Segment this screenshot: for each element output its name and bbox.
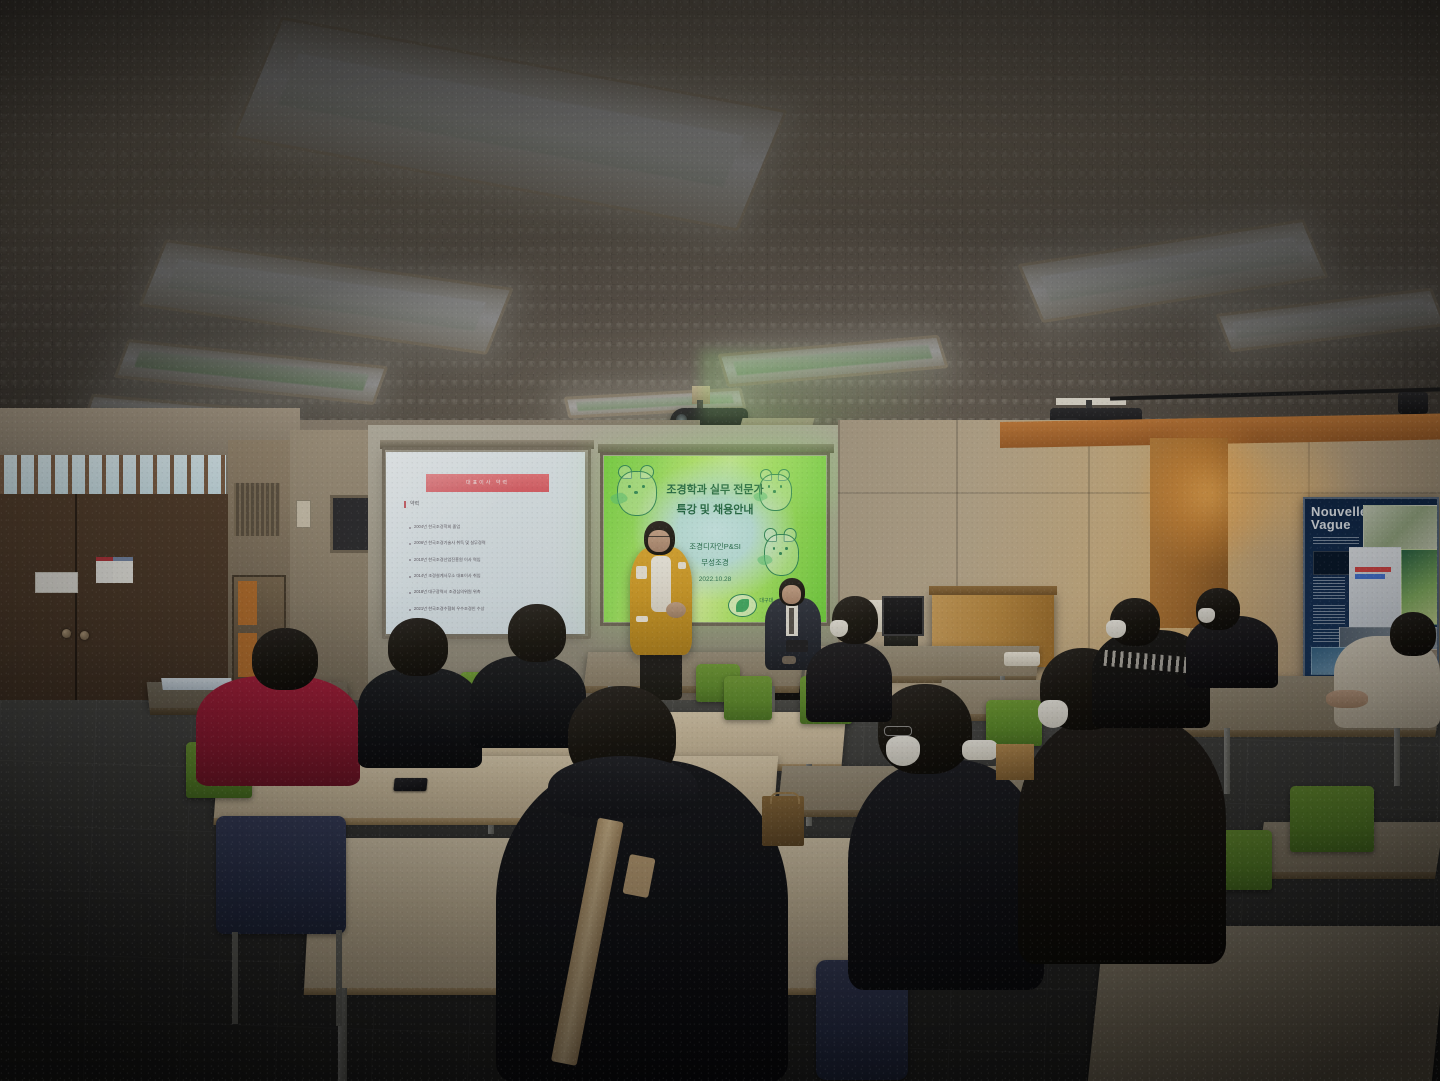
chair-green-6 bbox=[1290, 786, 1374, 852]
presenter-glasses bbox=[648, 536, 671, 542]
table-leg bbox=[1394, 728, 1400, 786]
attendee-black1-head bbox=[388, 618, 448, 676]
face-mask bbox=[886, 736, 920, 766]
cream-hands bbox=[1326, 690, 1368, 708]
paper-bag-right bbox=[996, 744, 1034, 780]
host-tie bbox=[789, 608, 794, 634]
mid-attendee-jacket bbox=[806, 642, 892, 722]
bag-on-floor bbox=[1004, 652, 1040, 666]
cardigan-patch-2 bbox=[678, 562, 686, 569]
cardigan-patch-3 bbox=[636, 616, 648, 622]
university-logo-icon bbox=[728, 594, 757, 618]
chair-leg-frame bbox=[232, 932, 238, 1024]
cabinet-panel-upper bbox=[238, 581, 257, 625]
transom-mullions bbox=[0, 455, 226, 495]
cream-head bbox=[1390, 612, 1436, 656]
tissue-on-table bbox=[962, 740, 998, 760]
attendee-crimson-head bbox=[252, 628, 318, 690]
presenter-hands bbox=[666, 602, 686, 618]
projector-green-light-spill-2 bbox=[700, 350, 960, 420]
chair-leg-frame bbox=[336, 930, 342, 1026]
paper-bag-handle bbox=[770, 792, 800, 804]
slide-subtitle-line1: 조경디자인P&SI bbox=[604, 541, 826, 552]
poster-title-line2: Vague bbox=[1311, 518, 1368, 531]
smartphone-on-table[interactable] bbox=[393, 778, 427, 791]
light-switch-plate[interactable] bbox=[296, 500, 311, 528]
chair-blue-1 bbox=[216, 816, 346, 934]
lectern-top bbox=[929, 586, 1057, 595]
face-mask bbox=[1198, 608, 1215, 623]
host-device bbox=[786, 640, 808, 652]
photograph-lecture-room: 대표이사 약력 약력 2004년 한국조경학회 졸업 2006년 한국조경기술사… bbox=[0, 0, 1440, 1081]
glasses-attendee-sweater bbox=[848, 760, 1044, 990]
door-handle-right[interactable] bbox=[80, 631, 89, 640]
wall-notice-blue bbox=[113, 557, 133, 583]
attendee-midleft-head bbox=[508, 604, 566, 662]
cardigan-patch-1 bbox=[636, 566, 647, 579]
poster-site-plan bbox=[1363, 505, 1439, 553]
face-mask bbox=[830, 620, 848, 637]
track-spotlight-4 bbox=[1398, 392, 1428, 414]
table-leg bbox=[1224, 728, 1230, 794]
face-mask bbox=[1038, 700, 1068, 728]
door-notice-sign bbox=[35, 572, 78, 593]
item-on-front-table bbox=[782, 656, 796, 664]
host-face bbox=[782, 585, 801, 604]
door-handle-left[interactable] bbox=[62, 629, 71, 638]
av-monitor bbox=[882, 596, 924, 636]
wall-vent-grill bbox=[234, 483, 280, 536]
glasses-icon bbox=[884, 726, 912, 736]
chair-green-2 bbox=[724, 676, 772, 720]
chair-green-4 bbox=[986, 700, 1042, 746]
poster-title: Nouvelle Vague bbox=[1311, 505, 1368, 531]
centerright-jacket bbox=[1018, 714, 1226, 964]
face-mask bbox=[1106, 620, 1126, 638]
attendee-crimson-jacket bbox=[196, 676, 360, 786]
attendee-black1-jacket bbox=[358, 668, 482, 768]
foreground-hood bbox=[548, 756, 698, 818]
